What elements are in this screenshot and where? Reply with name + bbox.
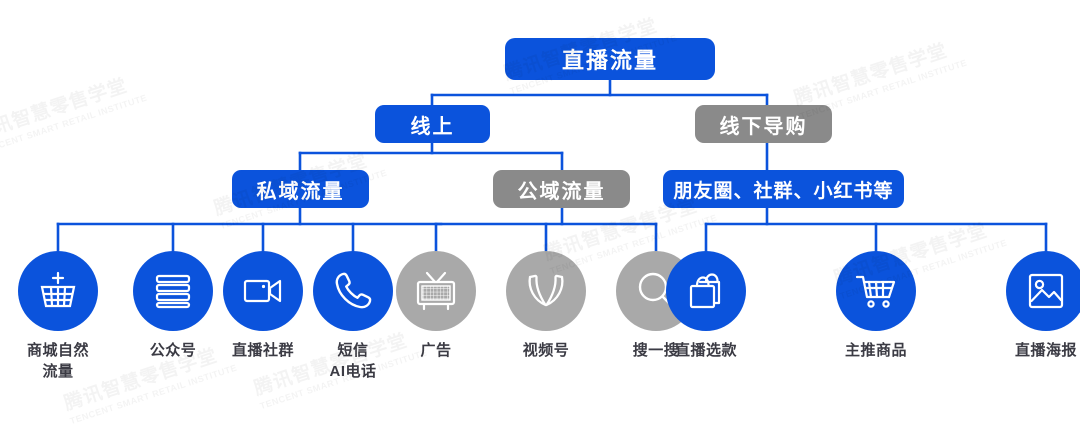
leaf-label-line1: 直播海报 — [991, 340, 1080, 361]
node-offline-guide[interactable]: 线下导购 — [695, 105, 832, 143]
picture-image-icon — [1023, 268, 1069, 314]
television-icon-circle[interactable] — [396, 251, 476, 331]
television-icon — [413, 268, 459, 314]
leaf-label: 广告 — [381, 340, 491, 361]
leaf-label: 直播海报 — [991, 340, 1080, 361]
wechat-channels-icon — [523, 268, 569, 314]
leaf-mall-natural-traffic[interactable]: 商城自然 流量 — [3, 251, 113, 382]
leaf-label: 直播选款 — [651, 340, 761, 361]
leaf-advertising[interactable]: 广告 — [381, 251, 491, 361]
list-lines-icon — [150, 268, 196, 314]
diagram-canvas: 腾讯智慧零售学堂 TENCENT SMART RETAIL INSTITUTE … — [0, 0, 1080, 433]
leaf-label-line2: 流量 — [3, 361, 113, 382]
leaf-label-line1: 直播选款 — [651, 340, 761, 361]
leaf-label: 视频号 — [491, 340, 601, 361]
shopping-bags-icon — [683, 268, 729, 314]
node-social-channels[interactable]: 朋友圈、社群、小红书等 — [663, 170, 904, 208]
shopping-cart-icon-circle[interactable] — [836, 251, 916, 331]
node-root-live-traffic[interactable]: 直播流量 — [505, 38, 715, 80]
node-online[interactable]: 线上 — [375, 105, 490, 143]
leaf-label: 商城自然 流量 — [3, 340, 113, 382]
leaf-label-line2: AI电话 — [298, 361, 408, 382]
leaf-label-line1: 广告 — [381, 340, 491, 361]
leaf-label-line1: 视频号 — [491, 340, 601, 361]
leaf-wechat-channels[interactable]: 视频号 — [491, 251, 601, 361]
leaf-featured-products[interactable]: 主推商品 — [821, 251, 931, 361]
video-camera-icon-circle[interactable] — [223, 251, 303, 331]
leaf-label-line1: 主推商品 — [821, 340, 931, 361]
picture-image-icon-circle[interactable] — [1006, 251, 1080, 331]
node-public-traffic[interactable]: 公域流量 — [493, 170, 630, 208]
shopping-basket-plus-icon — [35, 268, 81, 314]
leaf-label-line1: 商城自然 — [3, 340, 113, 361]
node-private-traffic[interactable]: 私域流量 — [232, 170, 369, 208]
leaf-label: 主推商品 — [821, 340, 931, 361]
list-lines-icon-circle[interactable] — [133, 251, 213, 331]
video-camera-icon — [240, 268, 286, 314]
shopping-bags-icon-circle[interactable] — [666, 251, 746, 331]
leaf-live-product-selection[interactable]: 直播选款 — [651, 251, 761, 361]
wechat-channels-icon-circle[interactable] — [506, 251, 586, 331]
phone-icon — [330, 268, 376, 314]
leaf-live-poster[interactable]: 直播海报 — [991, 251, 1080, 361]
shopping-basket-plus-icon-circle[interactable] — [18, 251, 98, 331]
shopping-cart-icon — [853, 268, 899, 314]
